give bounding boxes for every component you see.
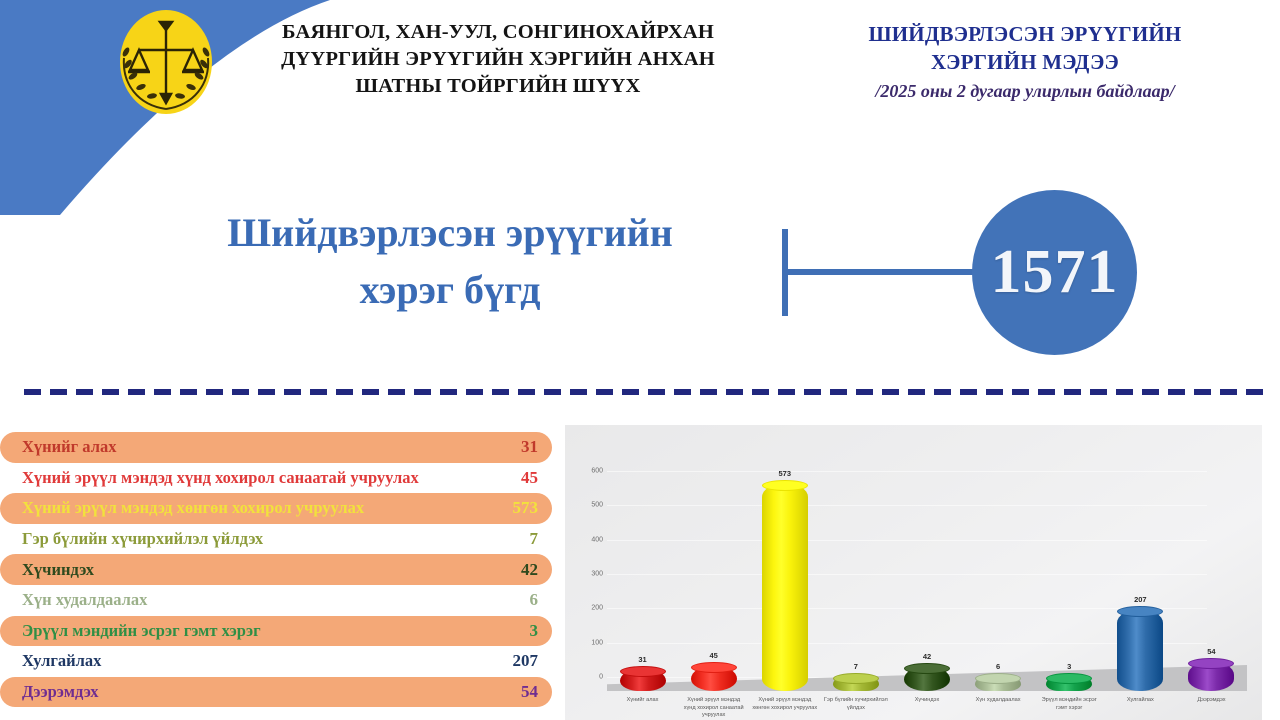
chart-bar: 207 xyxy=(1117,606,1163,691)
list-item: Хүний эрүүл мэндэд хөнгөн хохирол учруул… xyxy=(0,493,552,524)
x-axis-tick-label: Гэр бүлийн хүчирхийлэл үйлдэх xyxy=(823,697,888,712)
total-label-line-1: Шийдвэрлэсэн эрүүгийн xyxy=(110,204,790,261)
connector-horizontal-bar xyxy=(782,269,987,275)
y-axis-tick-label: 600 xyxy=(569,468,603,475)
chart-bar-value-label: 207 xyxy=(1117,595,1163,604)
list-item-label: Дээрэмдэх xyxy=(22,682,504,702)
chart-bar-top xyxy=(833,673,879,684)
list-item-value: 45 xyxy=(504,468,538,488)
chart-bar-top xyxy=(1046,673,1092,684)
x-axis-tick-label: Хүнийг алах xyxy=(610,697,675,705)
x-axis-tick-label: Хулгайлах xyxy=(1108,697,1173,705)
list-item-value: 7 xyxy=(504,529,538,549)
list-item-label: Гэр бүлийн хүчирхийлэл үйлдэх xyxy=(22,529,504,549)
y-axis-tick-label: 0 xyxy=(569,674,603,681)
chart-bar-value-label: 31 xyxy=(620,655,666,664)
y-axis-tick-label: 100 xyxy=(569,639,603,646)
chart-bar-body xyxy=(762,483,808,691)
chart-bar-top xyxy=(975,673,1021,684)
chart-bar: 7 xyxy=(833,673,879,691)
list-item-value: 573 xyxy=(504,498,538,518)
list-item-value: 31 xyxy=(504,437,538,457)
mongolia-court-scales-emblem-icon xyxy=(112,6,220,118)
x-axis-tick-label: Дээрэмдэх xyxy=(1179,697,1244,705)
chart-bar-top xyxy=(904,663,950,674)
list-item: Хүн худалдаалах6 xyxy=(0,585,552,616)
chart-bar-value-label: 45 xyxy=(691,651,737,660)
crime-type-list: Хүнийг алах31Хүний эрүүл мэндэд хүнд хох… xyxy=(0,432,552,707)
total-value-badge: 1571 xyxy=(972,190,1137,355)
court-name: БАЯНГОЛ, ХАН-УУЛ, СОНГИНОХАЙРХАН ДҮҮРГИЙ… xyxy=(228,19,768,100)
chart-bar-top xyxy=(1117,606,1163,617)
list-item-label: Хүний эрүүл мэндэд хөнгөн хохирол учруул… xyxy=(22,498,504,518)
report-period: /2025 оны 2 дугаар улирлын байдлаар/ xyxy=(775,78,1275,104)
list-item-value: 3 xyxy=(504,621,538,641)
court-name-line-1: БАЯНГОЛ, ХАН-УУЛ, СОНГИНОХАЙРХАН xyxy=(228,19,768,46)
chart-bar: 3 xyxy=(1046,673,1092,691)
chart-bar-value-label: 6 xyxy=(975,662,1021,671)
list-item: Эрүүл мэндийн эсрэг гэмт хэрэг3 xyxy=(0,616,552,647)
chart-gridline xyxy=(607,505,1207,506)
list-item: Хулгайлах207 xyxy=(0,646,552,677)
chart-bar: 45 xyxy=(691,662,737,691)
total-label-line-2: хэрэг бүгд xyxy=(110,261,790,318)
chart-plot-area: 010020030040050060031Хүнийг алах45Хүний … xyxy=(565,425,1262,720)
header: БАЯНГОЛ, ХАН-УУЛ, СОНГИНОХАЙРХАН ДҮҮРГИЙ… xyxy=(0,0,1280,135)
chart-bar-top xyxy=(691,662,737,673)
list-item-label: Хүн худалдаалах xyxy=(22,590,504,610)
list-item-value: 54 xyxy=(504,682,538,702)
chart-bar: 54 xyxy=(1188,658,1234,691)
x-axis-tick-label: Эрүүл мэндийн эсрэг гэмт хэрэг xyxy=(1037,697,1102,712)
x-axis-tick-label: Хүний эрүүл мэндэд хөнгөн хохирол учруул… xyxy=(752,697,817,712)
y-axis-tick-label: 500 xyxy=(569,502,603,509)
chart-bar: 42 xyxy=(904,663,950,691)
crime-type-bar-chart: 010020030040050060031Хүнийг алах45Хүний … xyxy=(565,425,1262,720)
chart-bar-value-label: 3 xyxy=(1046,662,1092,671)
chart-bar-value-label: 573 xyxy=(762,469,808,478)
report-title-line-1: ШИЙДВЭРЛЭСЭН ЭРҮҮГИЙН xyxy=(775,20,1275,48)
slide-root: БАЯНГОЛ, ХАН-УУЛ, СОНГИНОХАЙРХАН ДҮҮРГИЙ… xyxy=(0,0,1280,720)
chart-bar-value-label: 7 xyxy=(833,662,879,671)
report-title-line-2: ХЭРГИЙН МЭДЭЭ xyxy=(775,48,1275,76)
list-item: Хүчиндэх42 xyxy=(0,554,552,585)
list-item-label: Хулгайлах xyxy=(22,651,504,671)
list-item: Дээрэмдэх54 xyxy=(0,677,552,708)
list-item: Хүний эрүүл мэндэд хүнд хохирол санаатай… xyxy=(0,463,552,494)
list-item: Хүнийг алах31 xyxy=(0,432,552,463)
x-axis-tick-label: Хүн худалдаалах xyxy=(966,697,1031,705)
list-item-value: 42 xyxy=(504,560,538,580)
list-item-label: Хүчиндэх xyxy=(22,560,504,580)
chart-bar-value-label: 54 xyxy=(1188,647,1234,656)
chart-bar-value-label: 42 xyxy=(904,652,950,661)
x-axis-tick-label: Хүний эрүүл мэндэд хүнд хохирол санаатай… xyxy=(681,697,746,720)
report-title: ШИЙДВЭРЛЭСЭН ЭРҮҮГИЙН ХЭРГИЙН МЭДЭЭ /202… xyxy=(775,20,1275,104)
chart-gridline xyxy=(607,540,1207,541)
total-label: Шийдвэрлэсэн эрүүгийн хэрэг бүгд xyxy=(110,204,790,318)
y-axis-tick-label: 400 xyxy=(569,536,603,543)
y-axis-tick-label: 200 xyxy=(569,605,603,612)
chart-gridline xyxy=(607,574,1207,575)
court-name-line-2: ДҮҮРГИЙН ЭРҮҮГИЙН ХЭРГИЙН АНХАН xyxy=(228,46,768,73)
list-item-value: 6 xyxy=(504,590,538,610)
chart-gridline xyxy=(607,471,1207,472)
chart-bar-body xyxy=(1117,609,1163,691)
list-item-value: 207 xyxy=(504,651,538,671)
x-axis-tick-label: Хүчиндэх xyxy=(894,697,959,705)
list-item-label: Эрүүл мэндийн эсрэг гэмт хэрэг xyxy=(22,621,504,641)
chart-bar: 6 xyxy=(975,673,1021,691)
chart-bar: 31 xyxy=(620,666,666,691)
y-axis-tick-label: 300 xyxy=(569,571,603,578)
court-name-line-3: ШАТНЫ ТОЙРГИЙН ШҮҮХ xyxy=(228,73,768,100)
chart-bar: 573 xyxy=(762,480,808,691)
list-item-label: Хүнийг алах xyxy=(22,437,504,457)
dashed-divider xyxy=(24,389,1264,395)
list-item: Гэр бүлийн хүчирхийлэл үйлдэх7 xyxy=(0,524,552,555)
list-item-label: Хүний эрүүл мэндэд хүнд хохирол санаатай… xyxy=(22,468,504,488)
